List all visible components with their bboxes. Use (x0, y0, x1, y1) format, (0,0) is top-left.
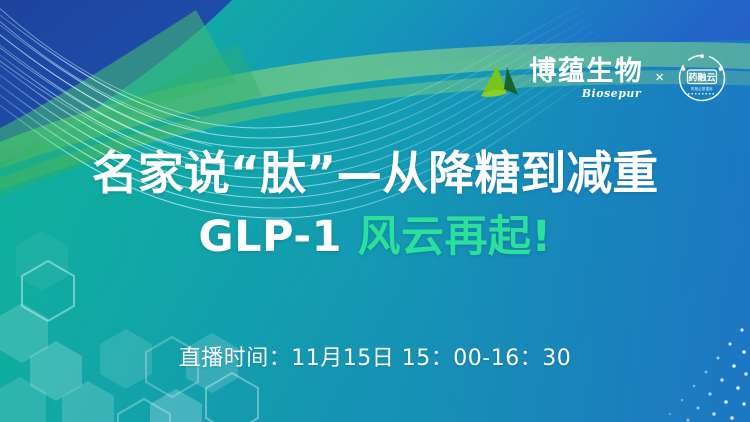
headline-line-2-accent: 风云再起! (358, 212, 552, 262)
logo-separator-x: × (654, 69, 665, 86)
yaorongyun-circle-badge: 药融云 药融云数据库 (676, 52, 728, 104)
partner-name-cn: 药融云 (688, 72, 716, 84)
headline-line-1: 名家说“肽”—从降糖到减重 (0, 148, 750, 200)
broadcast-schedule: 直播时间：11月15日 15：00-16：30 (0, 340, 750, 372)
biosepur-mountain-mark (480, 63, 522, 99)
headline-line-2-white: GLP-1 (198, 212, 357, 262)
brand-name-en: Biosepur (582, 88, 642, 99)
webinar-poster: 博蕴生物 Biosepur × 药融云 药融云数据库 (0, 0, 750, 422)
primary-brand-lockup: 博蕴生物 Biosepur (480, 58, 643, 99)
partner-tagline-cn: 药融云数据库 (691, 86, 713, 91)
logo-row: 博蕴生物 Biosepur × 药融云 药融云数据库 (480, 52, 728, 104)
brand-name-cn: 博蕴生物 (529, 58, 643, 85)
partner-logo: 药融云 药融云数据库 (676, 52, 728, 104)
headline-block: 名家说“肽”—从降糖到减重 GLP-1 风云再起! (0, 148, 750, 261)
primary-brand-words: 博蕴生物 Biosepur (529, 58, 643, 99)
headline-line-2: GLP-1 风云再起! (0, 214, 750, 261)
